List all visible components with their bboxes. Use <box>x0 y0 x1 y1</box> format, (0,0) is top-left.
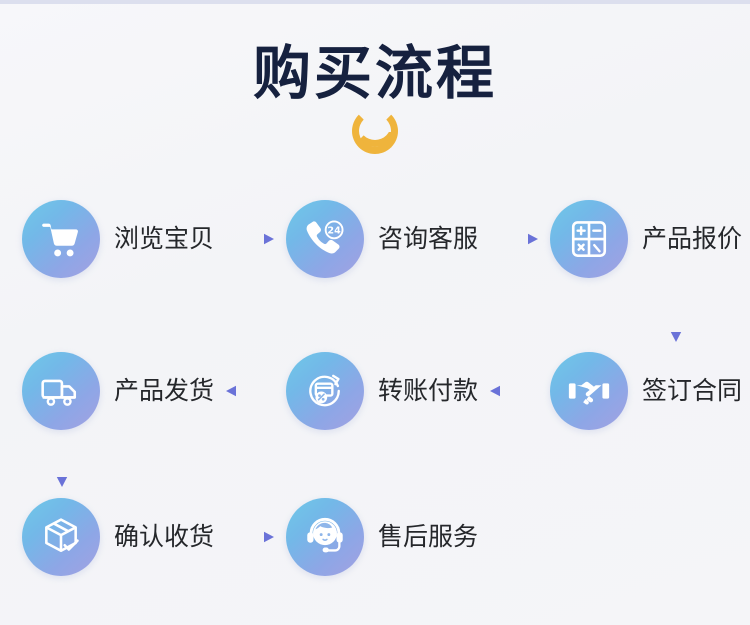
step-contact-support[interactable]: 24 咨询客服 <box>286 200 478 278</box>
svg-text:24: 24 <box>327 226 341 237</box>
arrow-left-icon <box>224 381 276 401</box>
step-label: 售后服务 <box>378 522 478 552</box>
step-label: 咨询客服 <box>378 224 478 254</box>
headset-support-icon <box>286 498 364 576</box>
step-label: 确认收货 <box>114 522 214 552</box>
phone-24h-icon: 24 <box>286 200 364 278</box>
step-label: 浏览宝贝 <box>114 224 214 254</box>
step-after-sales-service[interactable]: 售后服务 <box>286 498 478 576</box>
step-product-shipping[interactable]: 产品发货 <box>22 352 214 430</box>
page-title: 购买流程 <box>0 38 750 108</box>
calculator-icon <box>550 200 628 278</box>
header: 购买流程 <box>0 38 750 147</box>
connector-down-left-icon <box>52 437 72 489</box>
arrow-right-icon <box>488 229 540 249</box>
step-label: 产品发货 <box>114 376 214 406</box>
handshake-icon <box>550 352 628 430</box>
title-underline-arc-icon <box>352 124 398 147</box>
purchase-flow-infographic: 购买流程 <box>0 0 750 625</box>
shopping-cart-icon <box>22 200 100 278</box>
package-check-icon <box>22 498 100 576</box>
top-accent-band <box>0 0 750 4</box>
flow-row-1: 浏览宝贝 24 咨询客服 <box>22 196 742 282</box>
delivery-truck-icon <box>22 352 100 430</box>
step-label: 签订合同 <box>642 376 742 406</box>
connector-down-right-icon <box>666 292 686 344</box>
flow-row-2: 产品发货 <box>22 348 742 434</box>
arrow-right-icon <box>224 229 276 249</box>
flow-row-3: 确认收货 <box>22 494 478 580</box>
step-product-quotation[interactable]: 产品报价 <box>550 200 742 278</box>
step-browse-products[interactable]: 浏览宝贝 <box>22 200 214 278</box>
step-label: 产品报价 <box>642 224 742 254</box>
step-confirm-receipt[interactable]: 确认收货 <box>22 498 214 576</box>
arrow-right-icon <box>224 527 276 547</box>
step-sign-contract[interactable]: 签订合同 <box>550 352 742 430</box>
step-transfer-payment[interactable]: 转账付款 <box>286 352 478 430</box>
arrow-left-icon <box>488 381 540 401</box>
payment-transfer-icon <box>286 352 364 430</box>
step-label: 转账付款 <box>378 376 478 406</box>
